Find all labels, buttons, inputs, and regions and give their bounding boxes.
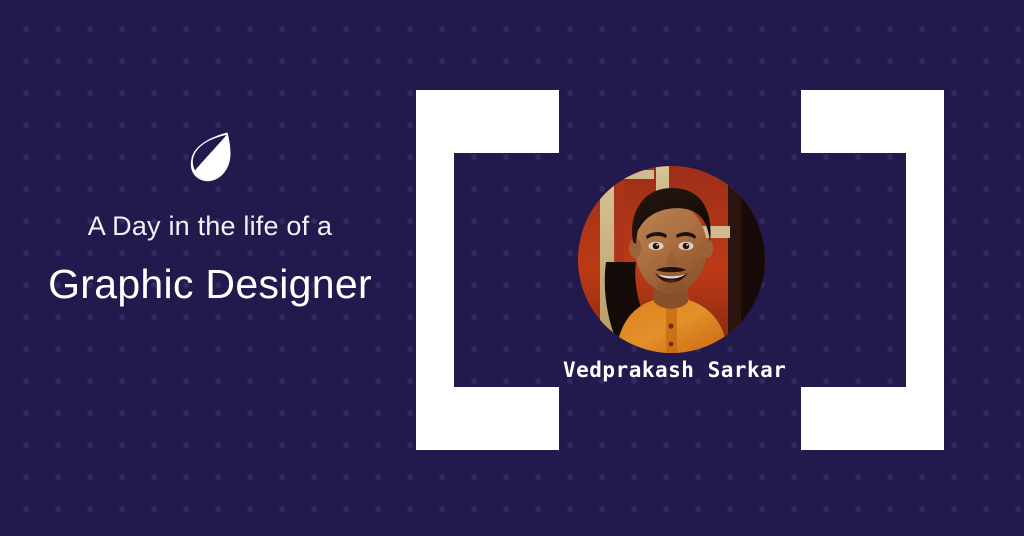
leaf-icon (189, 132, 231, 182)
right-bracket-top-bar (801, 90, 944, 153)
avatar (578, 166, 765, 353)
person-name: Vedprakash Sarkar (563, 358, 785, 382)
headline-line-2: Graphic Designer (0, 258, 420, 311)
portrait-photo (578, 166, 765, 353)
right-bracket-shape (801, 90, 944, 450)
headline-line-1: A Day in the life of a (0, 210, 420, 244)
banner-canvas: A Day in the life of a Graphic Designer (0, 0, 1024, 536)
left-bracket-bottom-bar (416, 387, 559, 450)
headline-block: A Day in the life of a Graphic Designer (0, 132, 420, 311)
left-bracket-top-bar (416, 90, 559, 153)
left-bracket-shape (416, 90, 559, 450)
right-bracket-bottom-bar (801, 387, 944, 450)
